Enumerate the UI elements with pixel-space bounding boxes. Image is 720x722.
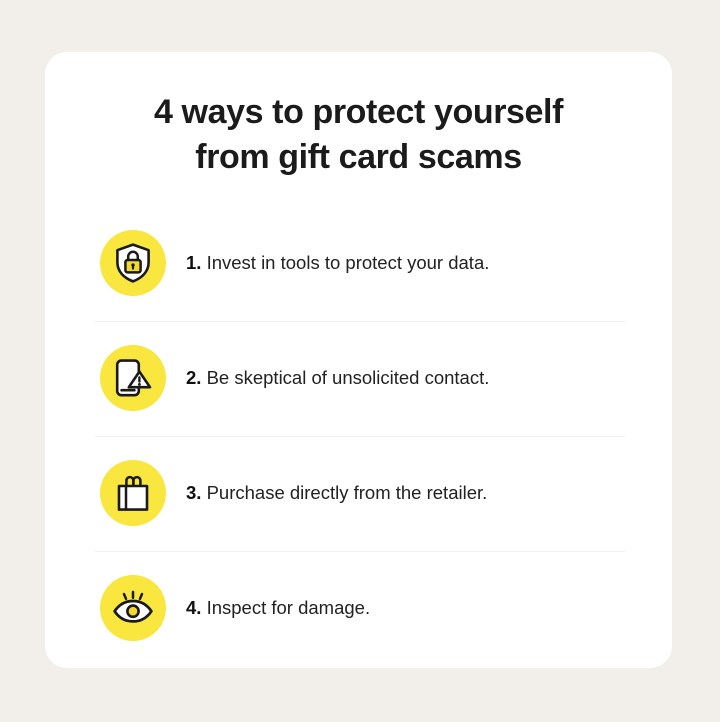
icon-badge-3: [100, 460, 166, 526]
list-item-text: 3. Purchase directly from the retailer.: [186, 481, 487, 505]
list-item-label: Be skeptical of unsolicited contact.: [207, 367, 490, 388]
list-item: 3. Purchase directly from the retailer.: [45, 436, 672, 551]
icon-badge-2: [100, 345, 166, 411]
list-item-number: 2.: [186, 367, 201, 388]
list-item-text: 2. Be skeptical of unsolicited contact.: [186, 366, 489, 390]
list-item-number: 1.: [186, 252, 201, 273]
page-title: 4 ways to protect yourself from gift car…: [45, 52, 672, 180]
icon-badge-4: [100, 575, 166, 641]
phone-warning-icon: [112, 357, 154, 399]
list-item-label: Inspect for damage.: [207, 597, 371, 618]
list-item-number: 3.: [186, 482, 201, 503]
shopping-bag-icon: [113, 472, 153, 514]
list-item: 2. Be skeptical of unsolicited contact.: [45, 321, 672, 436]
page-title-line-2: from gift card scams: [101, 135, 616, 180]
tips-list: 1. Invest in tools to protect your data.: [45, 206, 672, 666]
shield-lock-icon: [113, 242, 153, 284]
list-item-label: Purchase directly from the retailer.: [207, 482, 488, 503]
infographic-canvas: 4 ways to protect yourself from gift car…: [0, 0, 720, 722]
eye-icon: [111, 588, 155, 628]
info-card: 4 ways to protect yourself from gift car…: [45, 52, 672, 668]
list-item-text: 1. Invest in tools to protect your data.: [186, 251, 489, 275]
list-item-number: 4.: [186, 597, 201, 618]
icon-badge-1: [100, 230, 166, 296]
list-item: 4. Inspect for damage.: [45, 551, 672, 666]
page-title-line-1: 4 ways to protect yourself: [101, 90, 616, 135]
list-item-text: 4. Inspect for damage.: [186, 596, 370, 620]
list-item: 1. Invest in tools to protect your data.: [45, 206, 672, 321]
list-item-label: Invest in tools to protect your data.: [207, 252, 490, 273]
